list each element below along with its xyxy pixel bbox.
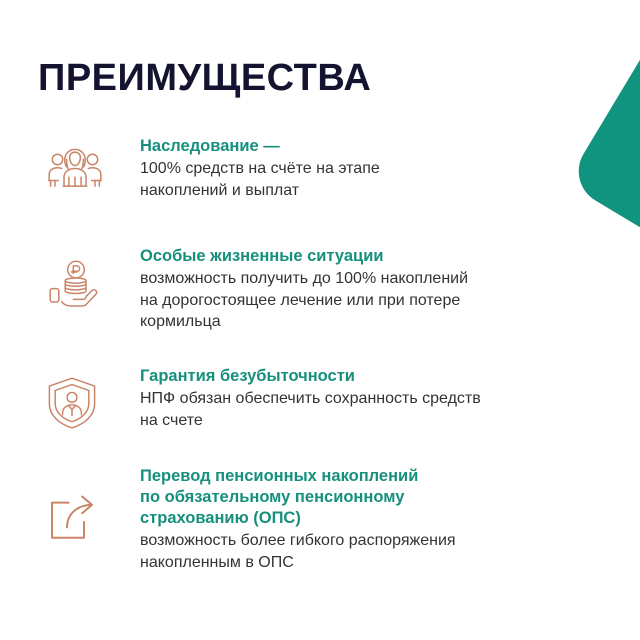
benefit-description: возможность получить до 100% накоплений … — [140, 268, 606, 333]
list-item: Наследование — 100% средств на счёте на … — [46, 136, 606, 201]
benefit-description: возможность более гибкого распоряжения н… — [140, 530, 606, 573]
hand-with-coins-icon — [46, 246, 112, 310]
list-item: Гарантия безубыточности НПФ обязан обесп… — [46, 366, 606, 431]
list-item: Перевод пенсионных накоплений по обязате… — [46, 466, 606, 573]
benefit-text: Особые жизненные ситуации возможность по… — [112, 246, 606, 333]
slide-canvas: ПРЕИМУЩЕСТВА — [0, 0, 640, 640]
export-arrow-icon — [46, 466, 112, 544]
benefit-title: Гарантия безубыточности — [140, 366, 606, 387]
benefit-text: Гарантия безубыточности НПФ обязан обесп… — [112, 366, 606, 431]
list-item: Особые жизненные ситуации возможность по… — [46, 246, 606, 333]
benefit-title: Наследование — — [140, 136, 606, 157]
benefit-text: Наследование — 100% средств на счёте на … — [112, 136, 606, 201]
page-title: ПРЕИМУЩЕСТВА — [38, 56, 371, 100]
benefit-title: Особые жизненные ситуации — [140, 246, 606, 267]
benefit-description: 100% средств на счёте на этапе накоплени… — [140, 158, 606, 201]
benefit-title: Перевод пенсионных накоплений по обязате… — [140, 466, 606, 529]
benefit-text: Перевод пенсионных накоплений по обязате… — [112, 466, 606, 573]
benefit-description: НПФ обязан обеспечить сохранность средст… — [140, 388, 606, 431]
family-icon — [46, 136, 112, 190]
shield-person-icon — [46, 366, 112, 430]
